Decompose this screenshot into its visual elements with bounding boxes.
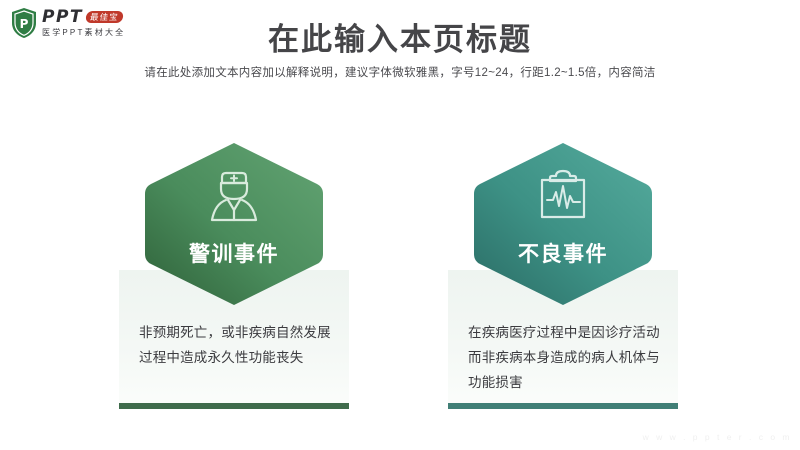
hexagon-badge-adverse-event[interactable]: 不良事件: [470, 140, 656, 308]
hexagon-label: 不良事件: [470, 238, 656, 268]
hexagon-label: 警训事件: [141, 238, 327, 268]
content-columns: 非预期死亡，或非疾病自然发展过程中造成永久性功能丧失: [0, 0, 800, 450]
ecg-clipboard-icon: [470, 168, 656, 229]
doctor-icon: [141, 168, 327, 231]
description-text: 在疾病医疗过程中是因诊疗活动而非疾病本身造成的病人机体与功能损害: [468, 320, 664, 395]
description-text: 非预期死亡，或非疾病自然发展过程中造成永久性功能丧失: [139, 320, 335, 370]
hexagon-badge-warning-event[interactable]: 警训事件: [141, 140, 327, 308]
column-warning-event: 非预期死亡，或非疾病自然发展过程中造成永久性功能丧失: [119, 0, 349, 450]
column-adverse-event: 在疾病医疗过程中是因诊疗活动而非疾病本身造成的病人机体与功能损害: [448, 0, 678, 450]
card-accent-bar: [448, 403, 678, 409]
footer-watermark: w w w . p p t e r . c o m: [643, 432, 792, 442]
card-accent-bar: [119, 403, 349, 409]
